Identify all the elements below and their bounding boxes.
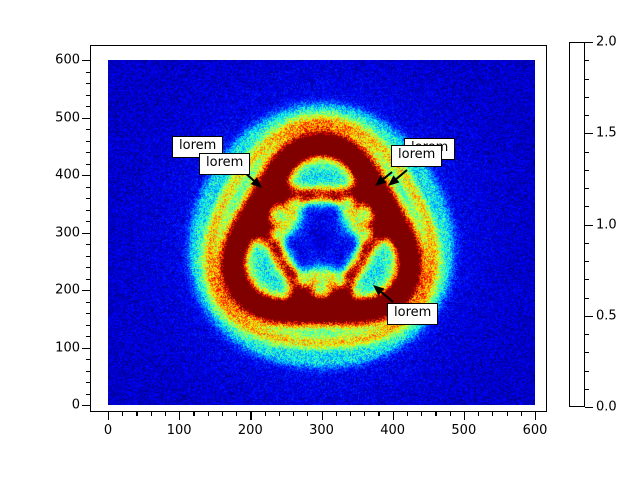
x-major-tick [322,412,323,420]
x-tick-label: 500 [451,423,476,438]
colorbar-tick-label: 1.5 [596,126,617,141]
y-tick-label: 300 [30,225,80,240]
colorbar-major-tick [585,316,593,317]
x-tick-label: 300 [309,423,334,438]
x-major-tick [250,412,251,420]
x-major-tick [108,412,109,420]
x-minor-tick [364,412,365,416]
y-major-tick [82,348,90,349]
colorbar-tick-label: 2.0 [596,35,617,50]
y-minor-tick [86,221,90,222]
x-minor-tick [307,412,308,416]
x-minor-tick [222,412,223,416]
annotation-label: lorem [179,138,216,153]
y-tick-label: 500 [30,110,80,125]
heatmap-canvas [108,60,535,405]
colorbar-minor-tick [585,188,589,189]
y-minor-tick [86,313,90,314]
x-minor-tick [122,412,123,416]
y-minor-tick [86,302,90,303]
y-minor-tick [86,371,90,372]
colorbar-minor-tick [585,243,589,244]
colorbar-minor-tick [585,79,589,80]
y-tick-label: 600 [30,53,80,68]
y-minor-tick [86,83,90,84]
colorbar-major-tick [585,133,593,134]
colorbar-minor-tick [585,152,589,153]
colorbar-minor-tick [585,206,589,207]
colorbar-minor-tick [585,261,589,262]
y-major-tick [82,233,90,234]
heatmap-image [108,60,535,405]
y-major-tick [82,405,90,406]
colorbar-minor-tick [585,334,589,335]
x-minor-tick [193,412,194,416]
y-tick-label: 200 [30,283,80,298]
colorbar-minor-tick [585,352,589,353]
x-minor-tick [151,412,152,416]
x-minor-tick [165,412,166,416]
x-minor-tick [279,412,280,416]
colorbar-major-tick [585,225,593,226]
x-minor-tick [293,412,294,416]
colorbar-minor-tick [585,371,589,372]
x-tick-label: 200 [238,423,263,438]
y-major-tick [82,290,90,291]
colorbar-tick-label: 0.5 [596,308,617,323]
x-minor-tick [265,412,266,416]
x-minor-tick [208,412,209,416]
colorbar-minor-tick [585,60,589,61]
y-major-tick [82,60,90,61]
x-minor-tick [435,412,436,416]
y-tick-label: 100 [30,340,80,355]
colorbar-minor-tick [585,170,589,171]
annotation-label: lorem [394,305,431,320]
x-tick-label: 100 [167,423,192,438]
colorbar-major-tick [585,407,593,408]
colorbar-major-tick [585,42,593,43]
y-minor-tick [86,152,90,153]
y-major-tick [82,118,90,119]
y-minor-tick [86,198,90,199]
annotation-label: lorem [206,155,243,170]
x-minor-tick [478,412,479,416]
x-tick-label: 0 [104,423,112,438]
colorbar-minor-tick [585,279,589,280]
x-major-tick [535,412,536,420]
y-minor-tick [86,164,90,165]
x-minor-tick [507,412,508,416]
annot-bottom[interactable]: lorem [387,303,438,325]
y-minor-tick [86,129,90,130]
y-minor-tick [86,72,90,73]
x-minor-tick [136,412,137,416]
x-major-tick [179,412,180,420]
annotation-label: lorem [398,147,435,162]
x-minor-tick [350,412,351,416]
y-minor-tick [86,106,90,107]
x-minor-tick [336,412,337,416]
colorbar-minor-tick [585,115,589,116]
y-tick-label: 400 [30,168,80,183]
colorbar-tick-label: 0.0 [596,400,617,415]
x-minor-tick [378,412,379,416]
y-minor-tick [86,267,90,268]
y-minor-tick [86,325,90,326]
colorbar-tick-label: 1.0 [596,217,617,232]
x-minor-tick [492,412,493,416]
colorbar-minor-tick [585,97,589,98]
x-minor-tick [450,412,451,416]
x-tick-label: 600 [523,423,548,438]
y-minor-tick [86,244,90,245]
y-minor-tick [86,279,90,280]
y-minor-tick [86,382,90,383]
x-minor-tick [407,412,408,416]
x-minor-tick [421,412,422,416]
x-minor-tick [236,412,237,416]
y-tick-label: 0 [30,398,80,413]
y-minor-tick [86,256,90,257]
colorbar-gradient [569,42,585,407]
x-major-tick [464,412,465,420]
y-minor-tick [86,187,90,188]
figure-canvas: 0100200300400500600 0100200300400500600 … [0,0,640,480]
x-minor-tick [521,412,522,416]
y-minor-tick [86,359,90,360]
x-major-tick [393,412,394,420]
colorbar: 0.00.51.01.52.0 [569,42,585,407]
annot-right-front[interactable]: lorem [391,145,442,167]
y-major-tick [82,175,90,176]
y-minor-tick [86,394,90,395]
x-tick-label: 400 [380,423,405,438]
annot-left-front[interactable]: lorem [199,153,250,175]
y-minor-tick [86,95,90,96]
colorbar-minor-tick [585,298,589,299]
y-minor-tick [86,210,90,211]
y-minor-tick [86,141,90,142]
colorbar-minor-tick [585,389,589,390]
y-minor-tick [86,336,90,337]
